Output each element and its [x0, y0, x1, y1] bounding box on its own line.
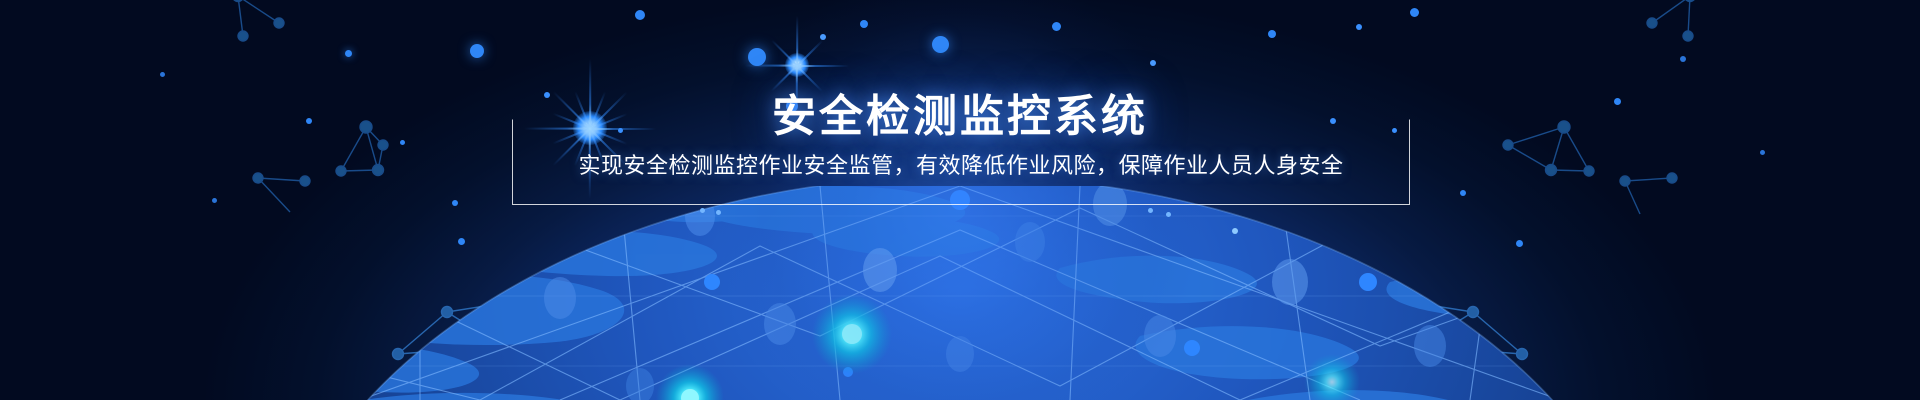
page-title: 安全检测监控系统 — [0, 95, 1920, 139]
banner-root: 安全检测监控系统 实现安全检测监控作业安全监管，有效降低作业风险，保障作业人员人… — [0, 0, 1920, 400]
title-container: 安全检测监控系统 — [0, 0, 1920, 400]
page-subtitle: 实现安全检测监控作业安全监管，有效降低作业风险，保障作业人员人身安全 — [512, 155, 1410, 177]
